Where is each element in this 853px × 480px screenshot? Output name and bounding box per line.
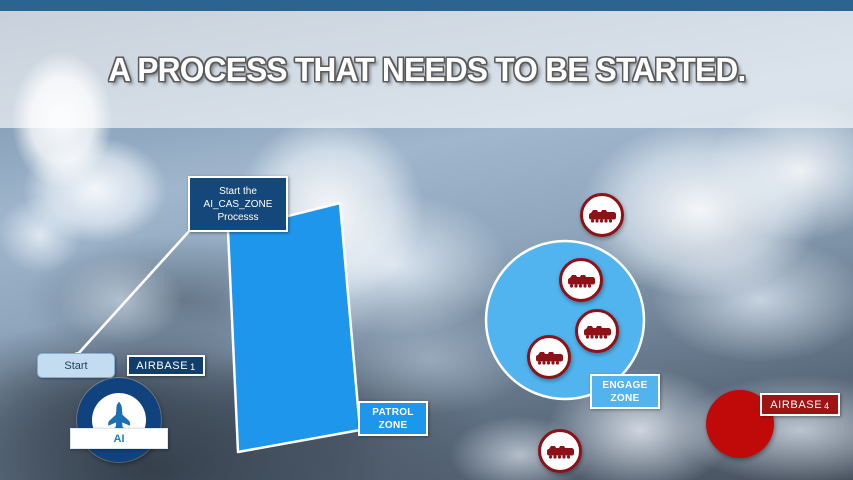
airbase-1-number: 1 [190, 362, 196, 372]
hostile-unit-marker[interactable] [580, 193, 624, 237]
ai-aircraft-node[interactable] [77, 378, 161, 462]
hostile-unit-marker[interactable] [538, 429, 582, 473]
ai-node-label: AI [70, 428, 168, 449]
callout-line-1: Start the [219, 185, 257, 198]
ai-node-label-text: AI [114, 433, 125, 445]
armored-vehicle-icon [546, 443, 574, 459]
hostile-unit-marker[interactable] [527, 335, 571, 379]
patrol-zone-label[interactable]: PATROL ZONE [358, 401, 428, 436]
patrol-zone-polygon[interactable] [228, 203, 360, 452]
patrol-zone-line-1: PATROL [372, 406, 413, 419]
engage-zone-line-1: ENGAGE [602, 379, 647, 392]
presentation-slide: A PROCESS THAT NEEDS TO BE STARTED. Star… [0, 0, 853, 480]
hostile-unit-marker[interactable] [559, 258, 603, 302]
callout-line-3: Processs [217, 211, 258, 224]
patrol-zone-line-2: ZONE [379, 419, 408, 432]
start-button-label: Start [64, 360, 87, 372]
airbase-1-text: AIRBASE [136, 360, 188, 372]
armored-vehicle-icon [588, 207, 616, 223]
airbase-4-label[interactable]: AIRBASE 4 [760, 393, 840, 416]
callout-leader-line [77, 228, 192, 355]
ai-cas-zone-callout[interactable]: Start the AI_CAS_ZONE Processs [188, 176, 288, 232]
start-button[interactable]: Start [37, 353, 115, 378]
armored-vehicle-icon [567, 272, 595, 288]
engage-zone-label[interactable]: ENGAGE ZONE [590, 374, 660, 409]
hostile-unit-marker[interactable] [575, 309, 619, 353]
airbase-4-text: AIRBASE [770, 399, 822, 411]
armored-vehicle-icon [583, 323, 611, 339]
airbase-4-number: 4 [824, 401, 830, 411]
callout-line-2: AI_CAS_ZONE [204, 198, 273, 211]
airbase-1-label[interactable]: AIRBASE 1 [127, 355, 205, 376]
armored-vehicle-icon [535, 349, 563, 365]
engage-zone-line-2: ZONE [611, 392, 640, 405]
